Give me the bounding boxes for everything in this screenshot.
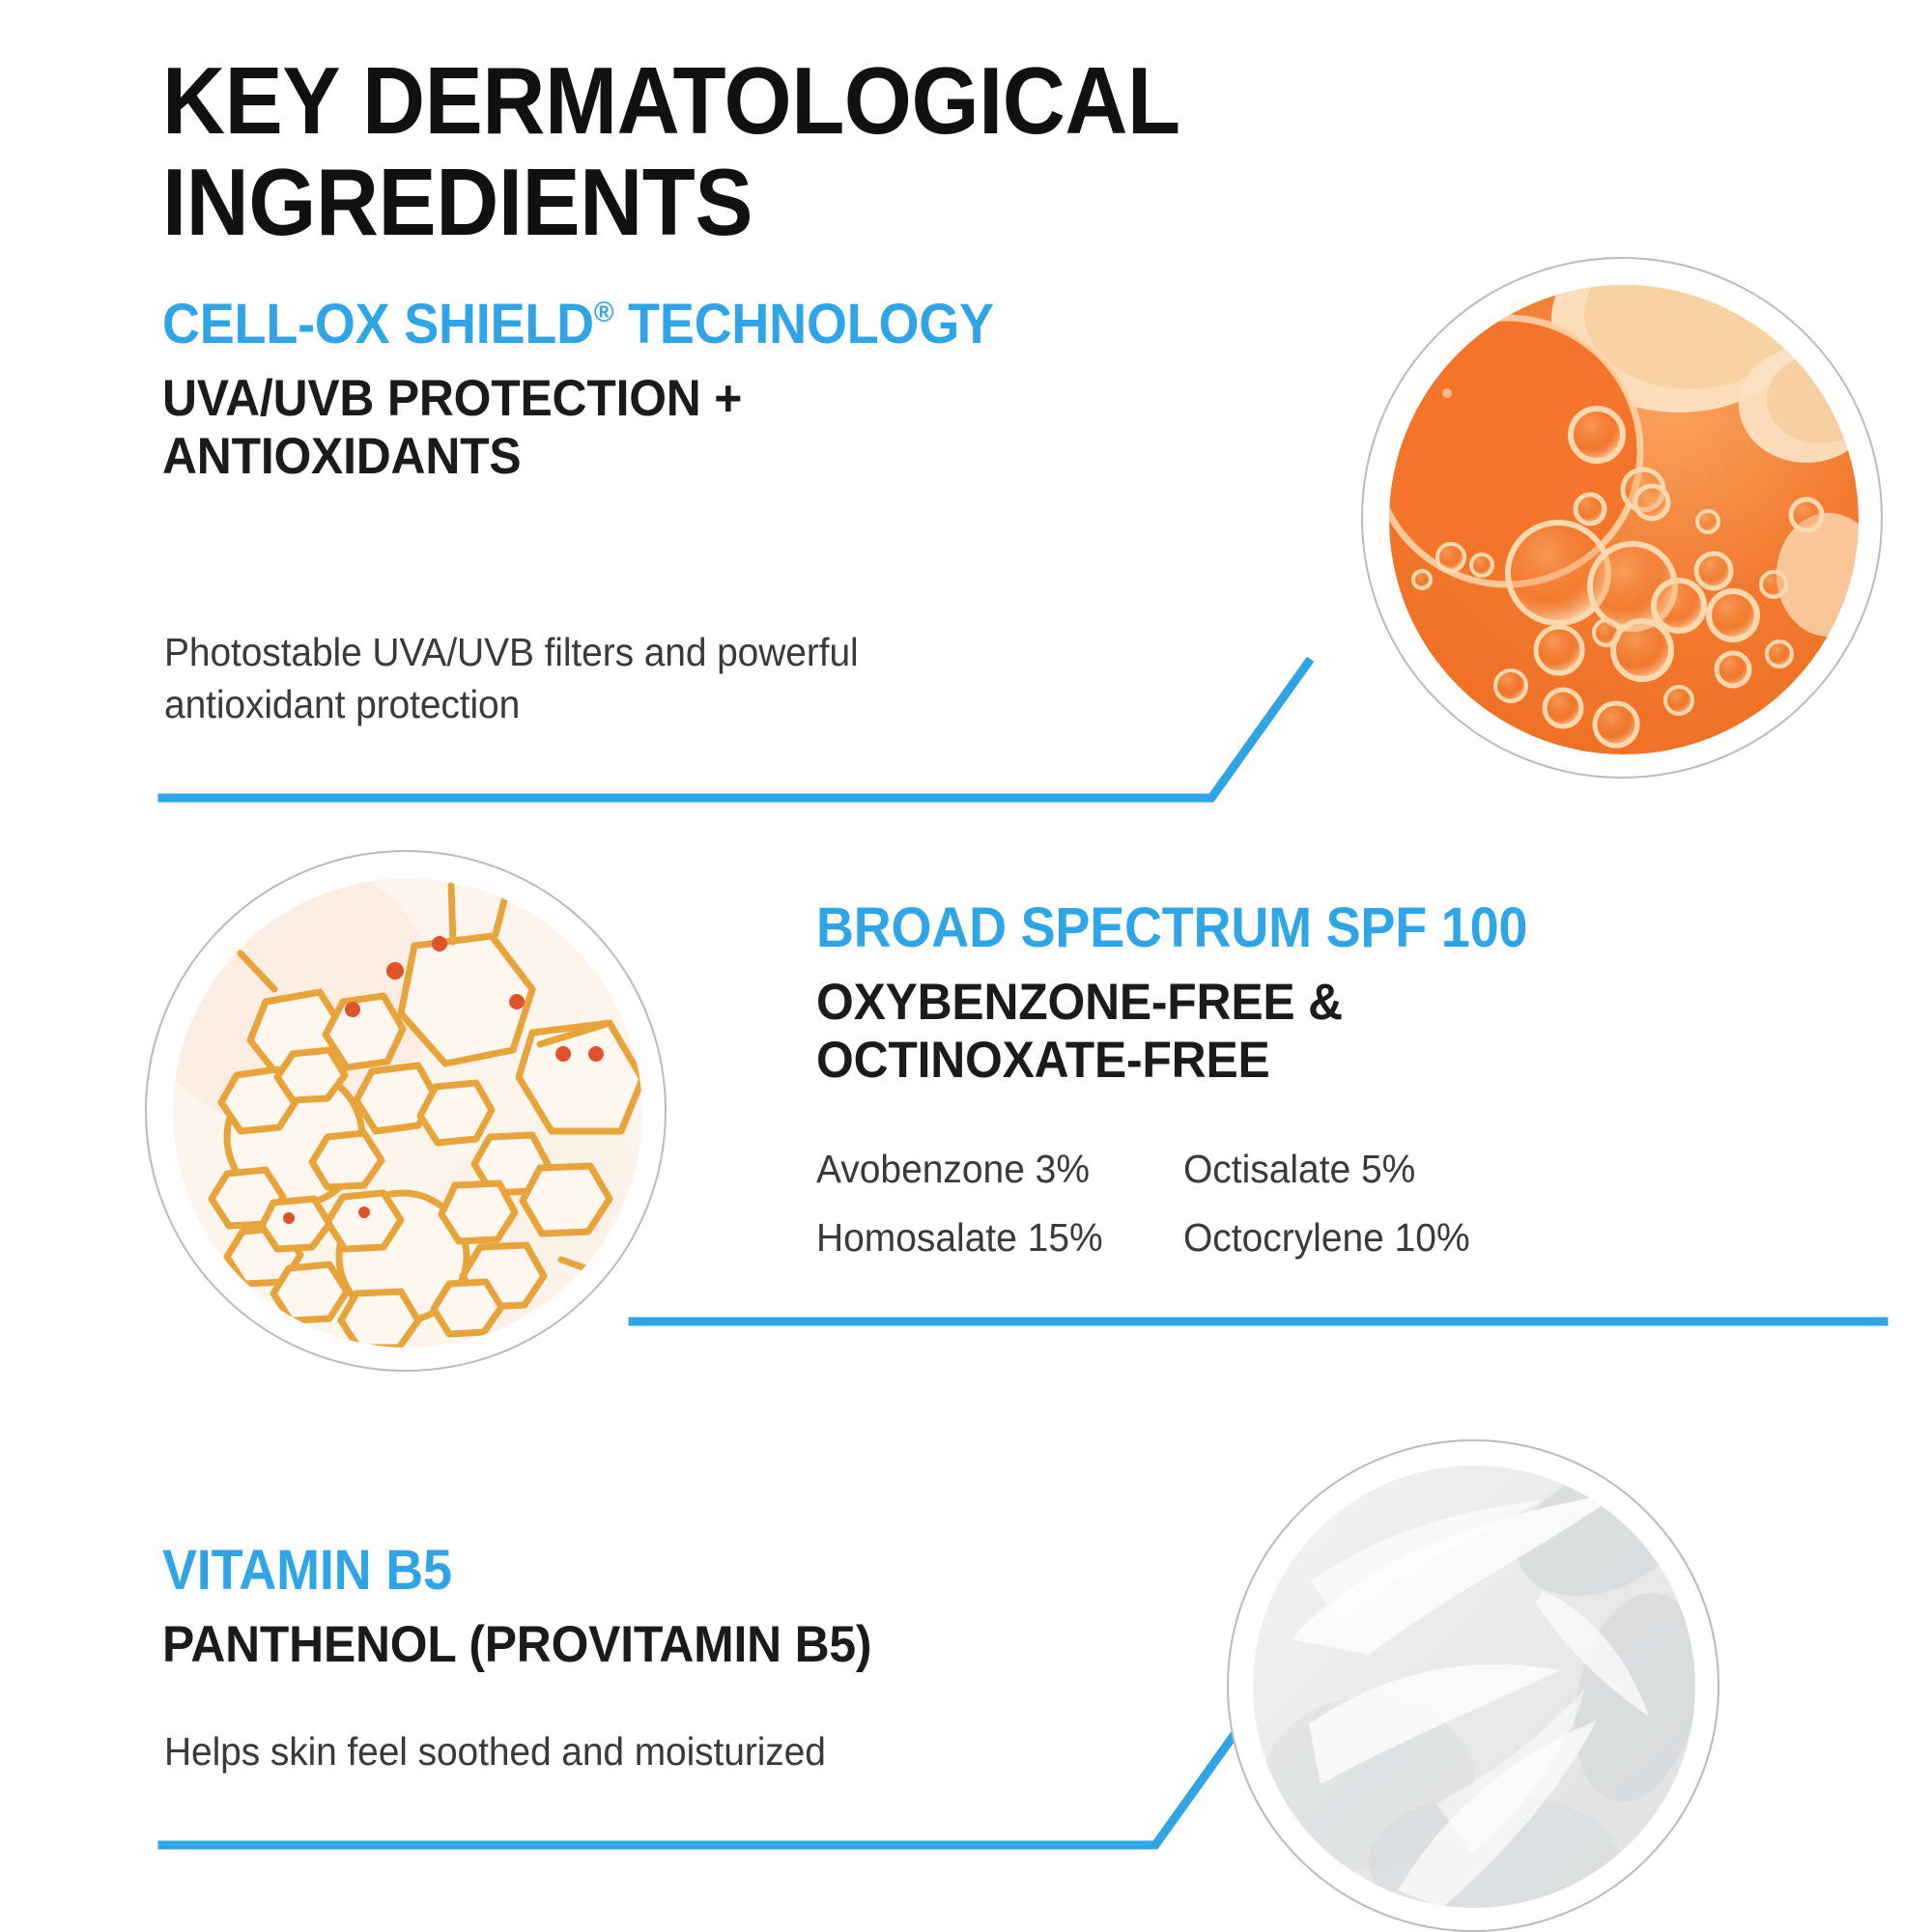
ingredient-list: Avobenzone 3% Octisalate 5% Homosalate 1… [816, 1144, 1744, 1264]
ingredient-octocrylene: Octocrylene 10% [1183, 1212, 1744, 1264]
cellular-tissue-image [173, 878, 642, 1348]
white-cream-texture-svg [1253, 1465, 1695, 1908]
orange-oil-droplets-photo [1361, 257, 1883, 779]
cellular-tissue-photo [145, 850, 667, 1372]
section-heading-broad-spectrum: BROAD SPECTRUM SPF 100 [816, 900, 1527, 956]
orange-oil-droplets-image [1389, 285, 1859, 754]
white-cream-texture-image [1253, 1465, 1695, 1908]
white-cream-texture-photo [1227, 1439, 1719, 1932]
ingredient-homosalate: Homosalate 15% [816, 1212, 1183, 1264]
heading-text: BROAD SPECTRUM SPF 100 [816, 896, 1527, 959]
heading-text: CELL-OX SHIELD [162, 293, 594, 355]
section-subheading-cell-ox-shield: UVA/UVB PROTECTION + ANTIOXIDANTS [162, 370, 742, 486]
ingredient-octisalate: Octisalate 5% [1183, 1144, 1744, 1195]
heading-suffix: TECHNOLOGY [613, 293, 994, 355]
orange-oil-droplets-svg [1389, 285, 1859, 754]
connector-line-section-2 [628, 1310, 1893, 1333]
registered-trademark-icon: ® [594, 297, 613, 328]
ingredient-avobenzone: Avobenzone 3% [816, 1144, 1183, 1195]
connector-line-section-1 [155, 647, 1372, 821]
page-title: KEY DERMATOLOGICAL INGREDIENTS [162, 50, 1406, 253]
section-heading-cell-ox-shield: CELL-OX SHIELD® TECHNOLOGY [162, 297, 994, 353]
cellular-tissue-svg [173, 878, 642, 1348]
infographic-page: KEY DERMATOLOGICAL INGREDIENTS CELL-OX S… [0, 0, 1932, 1932]
connector-line-section-3 [155, 1345, 1294, 1857]
section-subheading-broad-spectrum: OXYBENZONE-FREE & OCTINOXATE-FREE [816, 974, 1343, 1090]
